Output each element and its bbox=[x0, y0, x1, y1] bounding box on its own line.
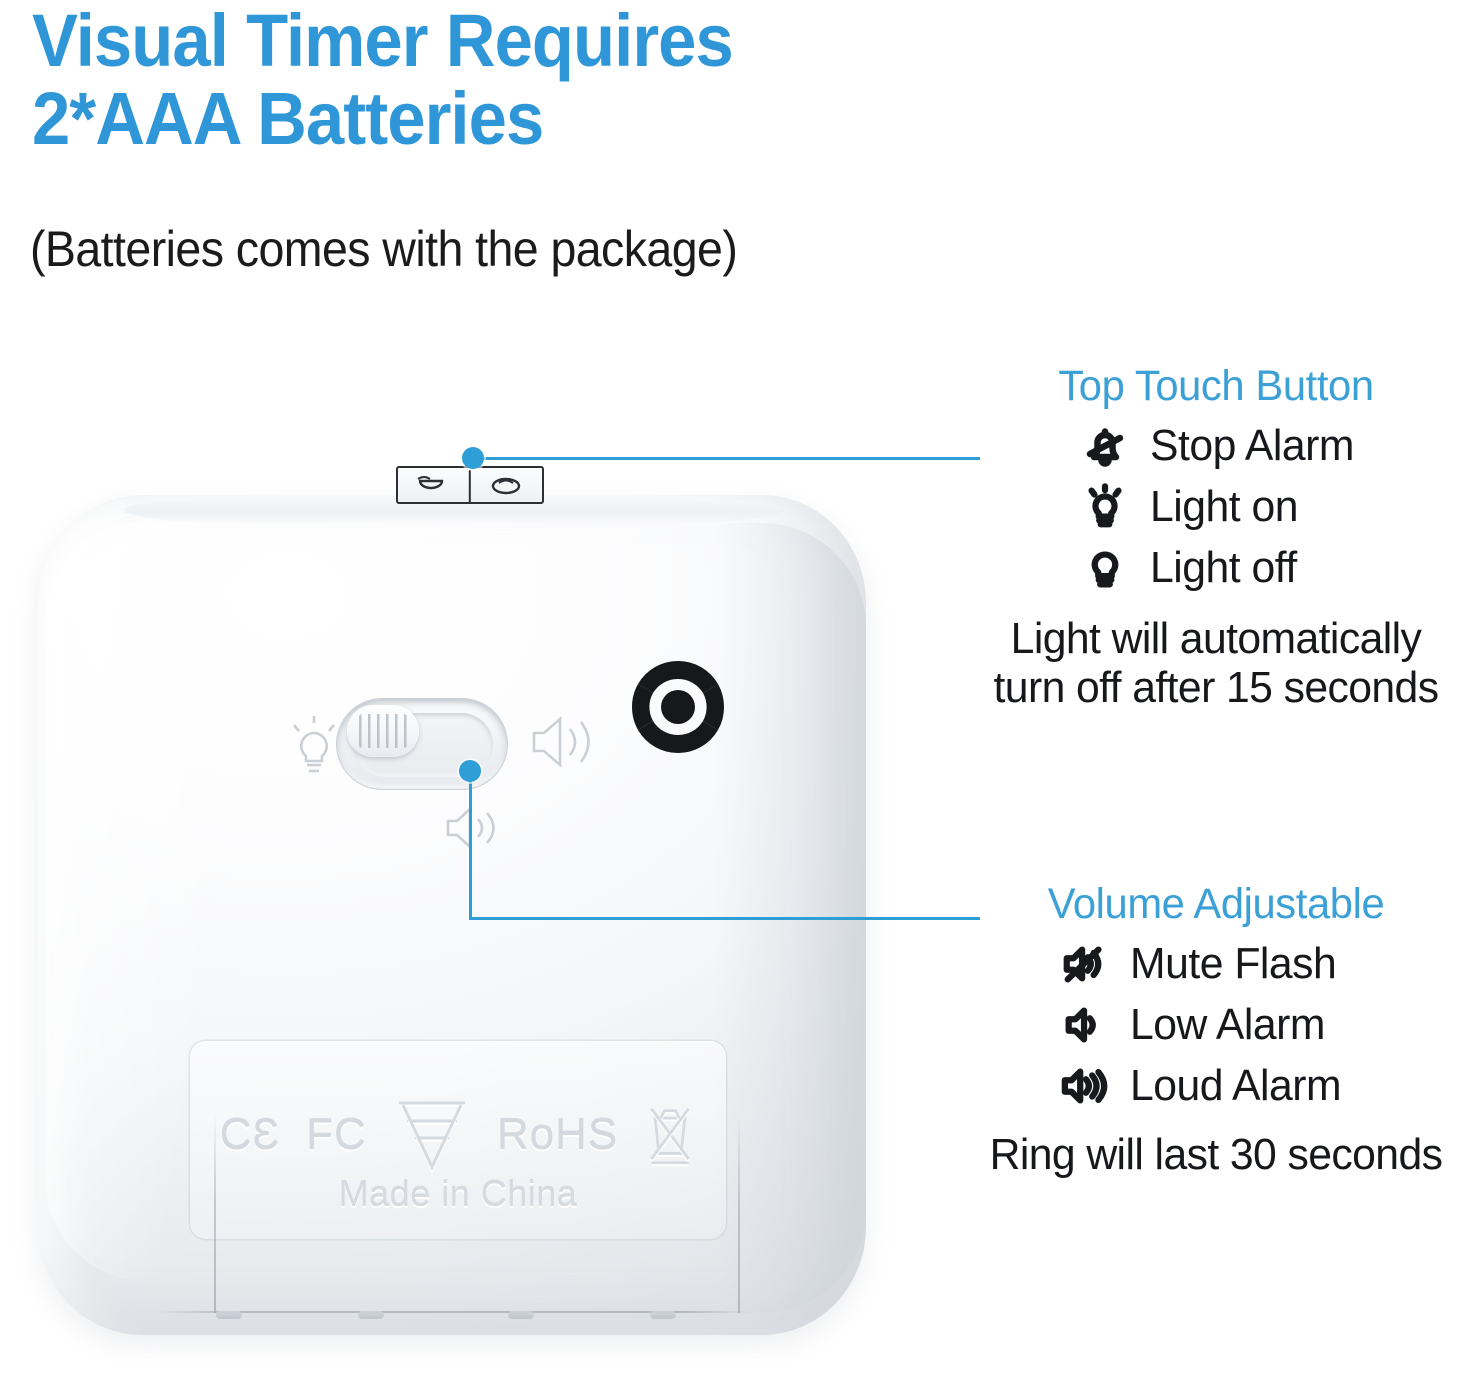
title-line-1: Visual Timer Requires bbox=[32, 2, 962, 80]
option-label-light-on: Light on bbox=[1150, 482, 1298, 532]
fcc-mark: FC bbox=[306, 1110, 367, 1160]
strip-divider bbox=[469, 470, 471, 504]
panel-top-touch-button: Top Touch Button Stop Alarm bbox=[960, 362, 1472, 713]
ce-mark: CƐ bbox=[220, 1110, 280, 1160]
note-line-1: Ring will last 30 seconds bbox=[968, 1130, 1465, 1179]
device-foot bbox=[508, 1311, 534, 1319]
title-line-2: 2*AAA Batteries bbox=[32, 80, 962, 158]
option-label-loud-alarm: Loud Alarm bbox=[1130, 1061, 1341, 1111]
option-list-top-touch-button: Stop Alarm Light on bbox=[960, 415, 1472, 598]
top-touch-button-strip[interactable] bbox=[396, 466, 544, 504]
option-list-volume-adjustable: Mute Flash Low Alarm Loud Alarm bbox=[960, 933, 1472, 1116]
bulb-on-icon bbox=[1076, 481, 1134, 533]
target-icon[interactable] bbox=[626, 655, 730, 759]
option-label-stop-alarm: Stop Alarm bbox=[1150, 421, 1354, 471]
device-foot bbox=[650, 1311, 676, 1319]
option-row-mute-flash[interactable]: Mute Flash bbox=[1056, 933, 1472, 994]
device-illustration: CƐ FC RoHS Made bbox=[38, 455, 918, 1335]
panel-heading-volume-adjustable: Volume Adjustable bbox=[968, 880, 1465, 929]
callout-line-volume-horizontal bbox=[469, 917, 980, 920]
bulb-off-icon bbox=[1076, 542, 1134, 594]
device-seam-left bbox=[214, 1113, 216, 1313]
callout-line-volume-vertical bbox=[469, 770, 472, 920]
note-top-touch-button: Light will automatically turn off after … bbox=[968, 614, 1465, 713]
callout-dot-top bbox=[462, 447, 484, 469]
option-row-loud-alarm[interactable]: Loud Alarm bbox=[1056, 1055, 1472, 1116]
rohs-mark: RoHS bbox=[497, 1110, 618, 1160]
device-seam-right bbox=[738, 1113, 740, 1313]
bell-off-icon bbox=[1076, 420, 1134, 472]
slider-knob[interactable] bbox=[347, 705, 419, 757]
speaker-loud-icon bbox=[1056, 1060, 1114, 1112]
speaker-mute-icon bbox=[1056, 938, 1114, 990]
page-title: Visual Timer Requires 2*AAA Batteries bbox=[32, 2, 1032, 157]
certification-plate: CƐ FC RoHS Made bbox=[190, 1041, 726, 1239]
device-foot bbox=[216, 1311, 242, 1319]
note-volume-adjustable: Ring will last 30 seconds bbox=[968, 1130, 1465, 1179]
option-label-light-off: Light off bbox=[1150, 543, 1297, 593]
option-label-low-alarm: Low Alarm bbox=[1130, 1000, 1325, 1050]
strip-bulb-glyph bbox=[484, 472, 528, 498]
lightbulb-icon bbox=[286, 713, 342, 777]
speaker-low-icon bbox=[442, 803, 502, 853]
triangle-mark bbox=[393, 1093, 471, 1178]
option-row-light-on[interactable]: Light on bbox=[1076, 476, 1472, 537]
certification-row: CƐ FC RoHS bbox=[190, 1087, 726, 1183]
page-subtitle: (Batteries comes with the package) bbox=[30, 222, 737, 277]
device-foot bbox=[358, 1311, 384, 1319]
option-row-stop-alarm[interactable]: Stop Alarm bbox=[1076, 415, 1472, 476]
note-line-1: Light will automatically bbox=[968, 614, 1465, 663]
speaker-waves-icon bbox=[526, 711, 602, 773]
option-row-light-off[interactable]: Light off bbox=[1076, 537, 1472, 598]
option-row-low-alarm[interactable]: Low Alarm bbox=[1056, 994, 1472, 1055]
callout-dot-volume bbox=[459, 760, 481, 782]
strip-speaker-glyph bbox=[412, 472, 456, 498]
speaker-low-icon bbox=[1056, 999, 1114, 1051]
origin-text: Made in China bbox=[190, 1173, 726, 1215]
weee-bin-mark bbox=[644, 1097, 696, 1174]
panel-volume-adjustable: Volume Adjustable Mute Flash Low Alar bbox=[960, 880, 1472, 1179]
note-line-2: turn off after 15 seconds bbox=[968, 663, 1465, 712]
volume-slider-switch[interactable] bbox=[336, 698, 508, 790]
callout-line-top bbox=[472, 457, 980, 460]
option-label-mute-flash: Mute Flash bbox=[1130, 939, 1336, 989]
panel-heading-top-touch-button: Top Touch Button bbox=[968, 362, 1465, 411]
slider-knob-grip bbox=[359, 714, 407, 748]
